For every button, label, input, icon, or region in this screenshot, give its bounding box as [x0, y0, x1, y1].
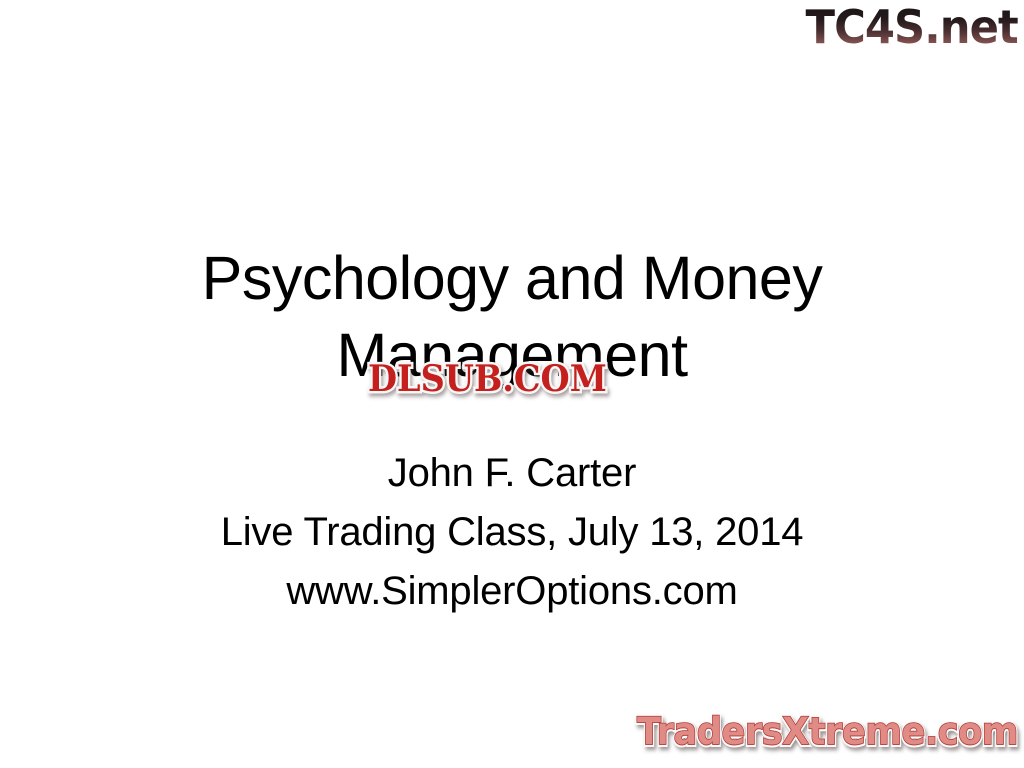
watermark-tradersxtreme-logo: TradersXtreme.com [637, 712, 1018, 754]
watermark-dlsub-logo: DLSUB.COM [368, 358, 607, 400]
watermark-tc4s-logo: TC4S.net [806, 2, 1018, 52]
watermark-tradersxtreme-text: TradersXtreme.com [637, 711, 1018, 754]
subtitle-block: John F. Carter Live Trading Class, July … [112, 444, 912, 621]
subtitle-website: www.SimplerOptions.com [112, 562, 912, 621]
subtitle-class-date: Live Trading Class, July 13, 2014 [112, 503, 912, 562]
subtitle-presenter: John F. Carter [112, 444, 912, 503]
presentation-slide: Psychology and Money Management John F. … [0, 0, 1024, 768]
